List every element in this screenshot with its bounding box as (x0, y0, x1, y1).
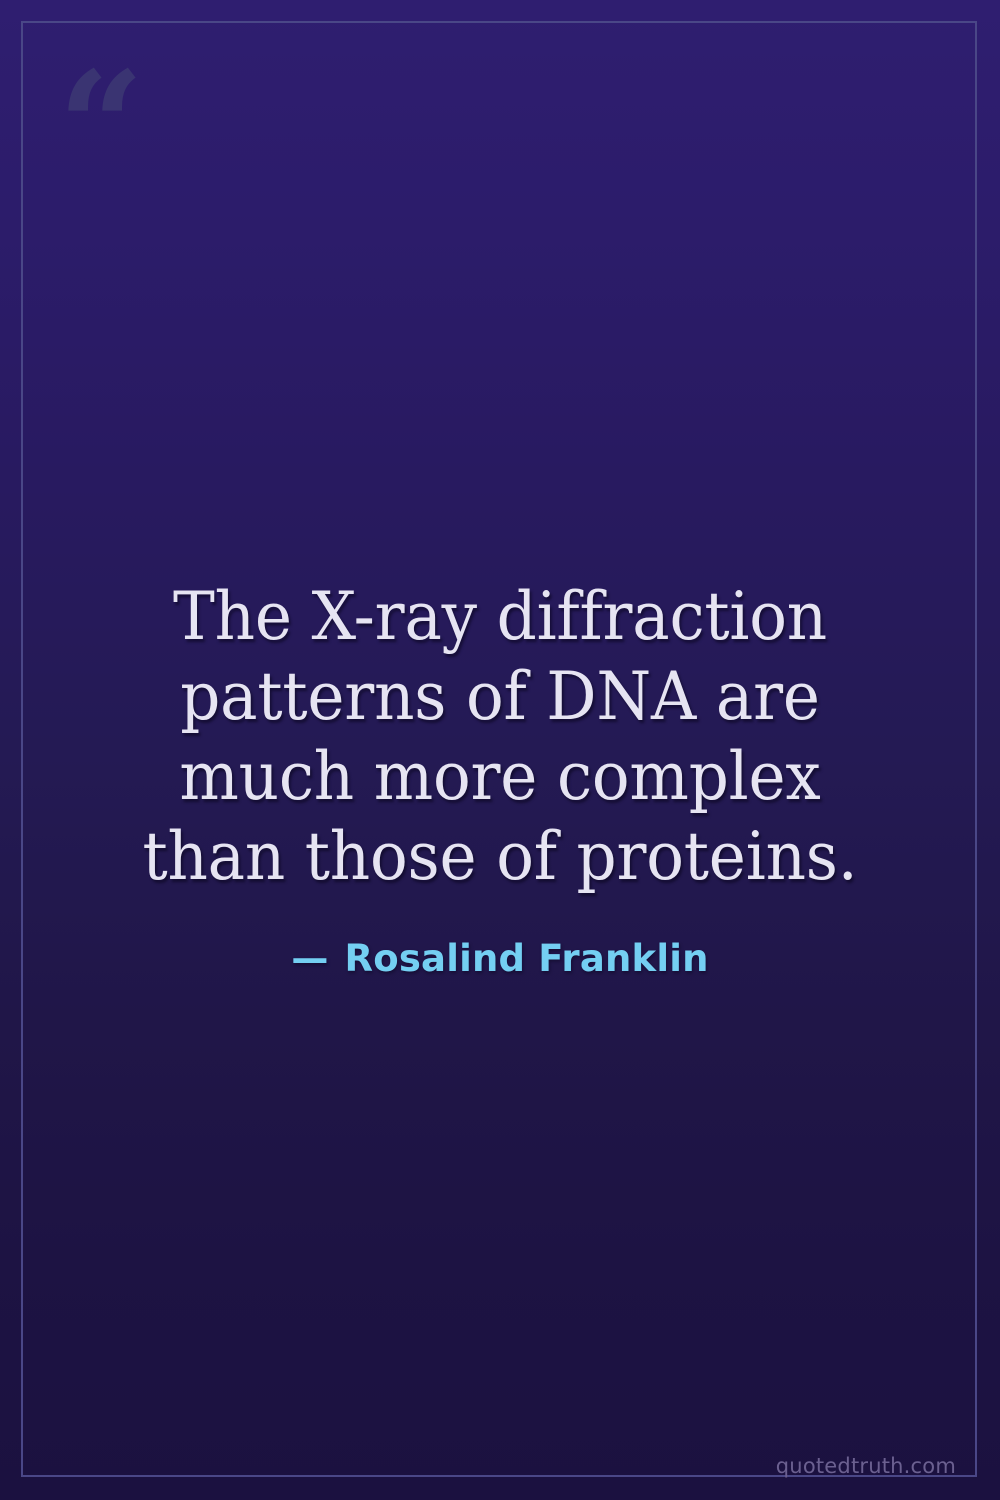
site-watermark: quotedtruth.com (776, 1454, 956, 1478)
quote-content: The X-ray diffraction patterns of DNA ar… (0, 0, 1000, 1500)
author-name: Rosalind Franklin (345, 937, 709, 980)
quote-text: The X-ray diffraction patterns of DNA ar… (106, 577, 895, 897)
quote-card: “ The X-ray diffraction patterns of DNA … (0, 0, 1000, 1500)
em-dash-icon: — (291, 937, 328, 980)
author-attribution: — Rosalind Franklin (291, 937, 708, 980)
